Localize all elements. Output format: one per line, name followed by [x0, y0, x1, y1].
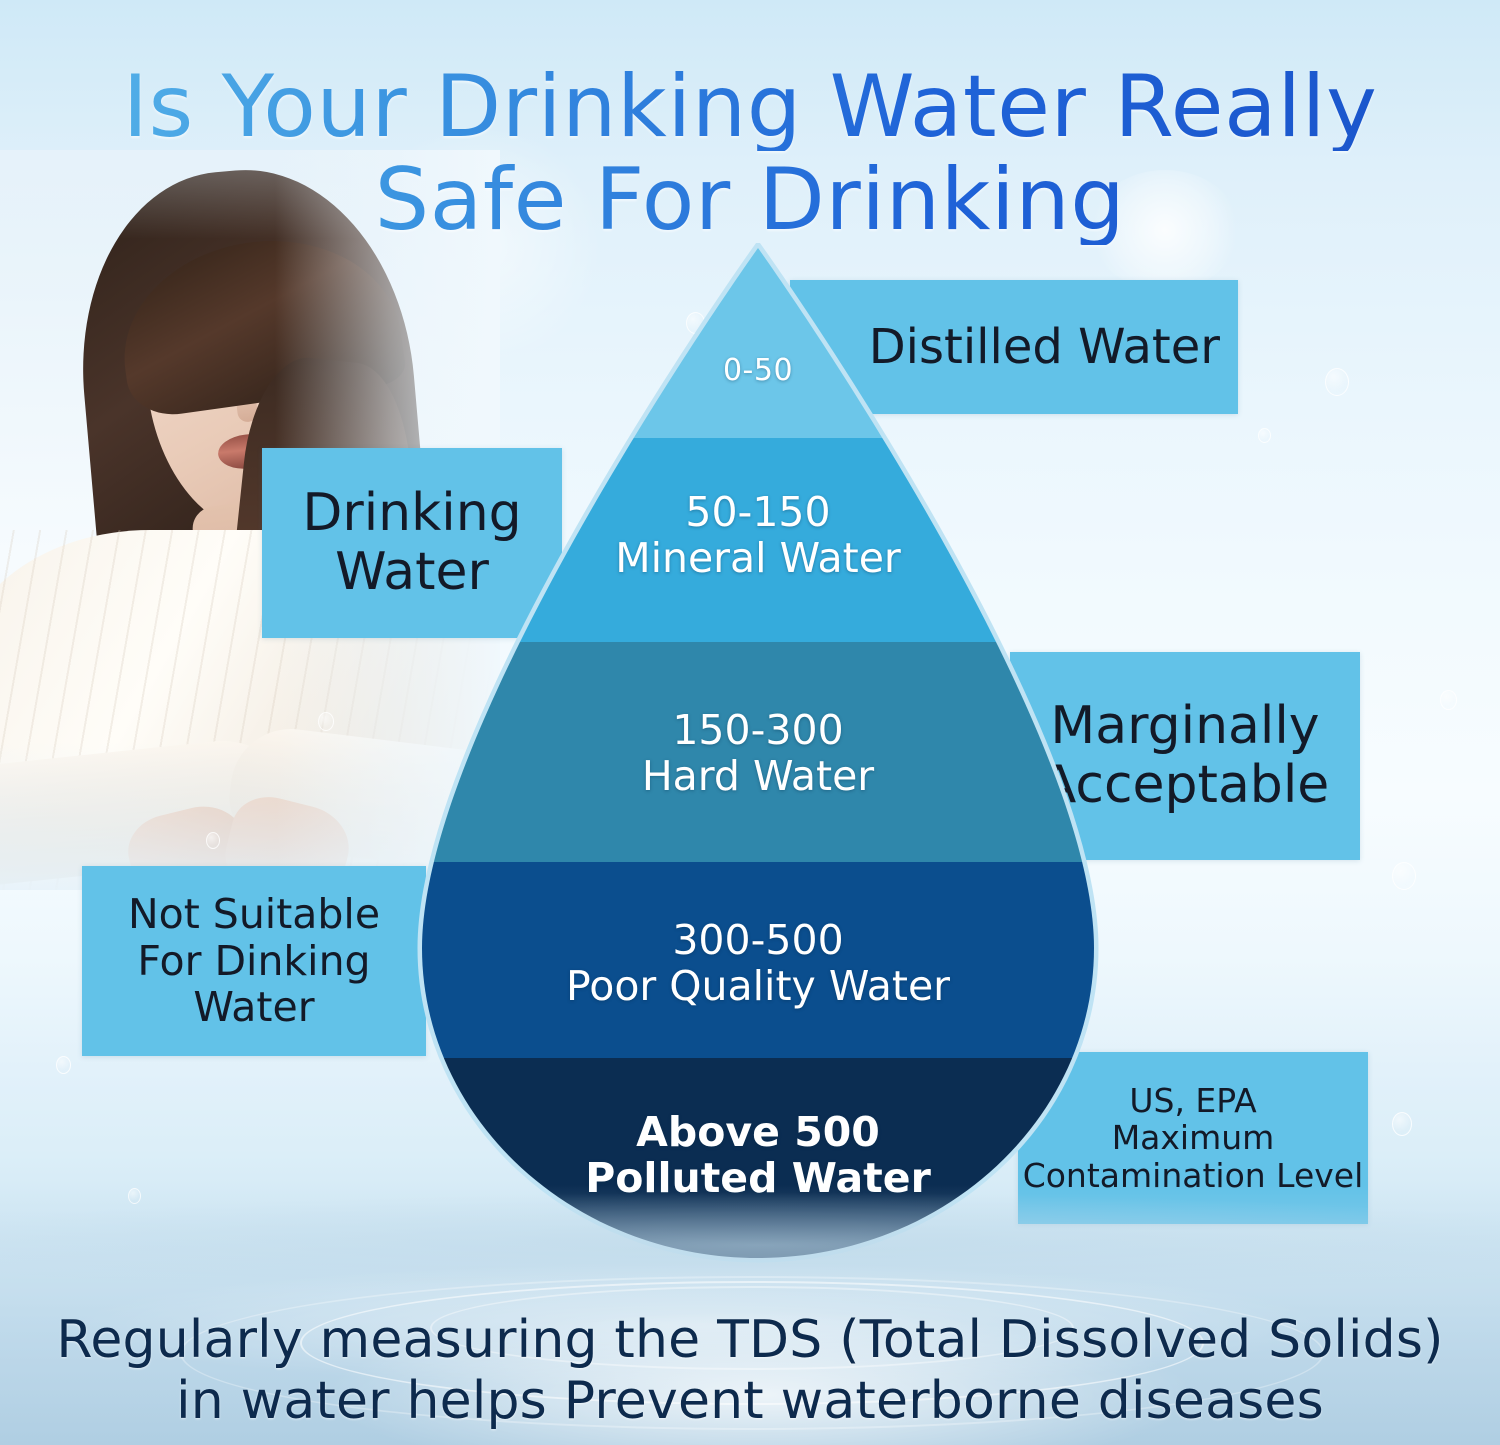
droplet-label-poor: 300-500 Poor Quality Water — [422, 918, 1094, 1010]
droplet-range-4: Above 500 — [422, 1110, 1094, 1156]
water-droplet-chart: 0-50 50-150 Mineral Water 150-300 Hard W… — [422, 248, 1094, 1258]
label-not-suitable-line-1: Not Suitable — [128, 891, 380, 938]
bubble-icon — [1325, 368, 1349, 396]
droplet-name-4: Polluted Water — [422, 1156, 1094, 1202]
footer-caption: Regularly measuring the TDS (Total Disso… — [0, 1310, 1500, 1431]
page-title: Is Your Drinking Water Really Safe For D… — [0, 64, 1500, 245]
droplet-range-3: 300-500 — [422, 918, 1094, 964]
droplet-range-2: 150-300 — [422, 708, 1094, 754]
bubble-icon — [1440, 690, 1457, 710]
droplet-label-mineral: 50-150 Mineral Water — [422, 490, 1094, 582]
droplet-name-2: Hard Water — [422, 754, 1094, 800]
bubble-icon — [1258, 428, 1271, 443]
bubble-icon — [128, 1188, 141, 1204]
bubble-icon — [1392, 1112, 1412, 1136]
bubble-icon — [56, 1056, 71, 1074]
infographic-poster: Is Your Drinking Water Really Safe For D… — [0, 0, 1500, 1445]
label-not-suitable-line-2: For Dinking — [128, 938, 380, 985]
droplet-label-hard: 150-300 Hard Water — [422, 708, 1094, 800]
bubble-icon — [1392, 862, 1416, 890]
label-not-suitable: Not Suitable For Dinking Water — [82, 866, 426, 1056]
caption-line-1: Regularly measuring the TDS (Total Disso… — [0, 1310, 1500, 1370]
caption-line-2: in water helps Prevent waterborne diseas… — [0, 1371, 1500, 1431]
label-not-suitable-line-3: Water — [128, 984, 380, 1031]
droplet-name-3: Poor Quality Water — [422, 964, 1094, 1010]
droplet-name-1: Mineral Water — [422, 536, 1094, 582]
title-line-2: Safe For Drinking — [0, 157, 1500, 245]
droplet-range-1: 50-150 — [422, 490, 1094, 536]
droplet-label-distilled: 0-50 — [422, 354, 1094, 388]
title-line-1: Is Your Drinking Water Really — [0, 64, 1500, 152]
droplet-range-0: 0-50 — [422, 354, 1094, 388]
droplet-label-polluted: Above 500 Polluted Water — [422, 1110, 1094, 1202]
